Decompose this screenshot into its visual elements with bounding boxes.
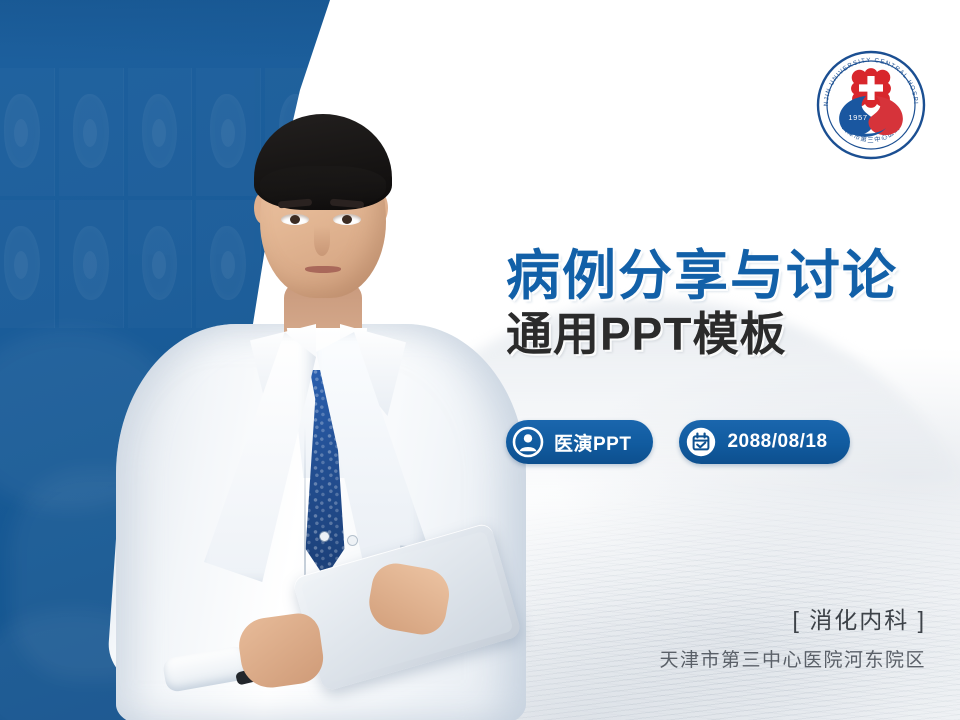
doctor-eye-left	[281, 214, 309, 225]
scan-cell	[0, 200, 55, 328]
organization-label: 天津市第三中心医院河东院区	[659, 645, 926, 672]
page-title: 病例分享与讨论	[506, 248, 926, 304]
date-badge[interactable]: 2088/08/18	[679, 420, 849, 464]
meta-badges: 医演PPT 2088/08/18	[506, 420, 850, 464]
user-icon	[512, 426, 544, 458]
scan-cell	[0, 68, 55, 196]
department-label: [ 消化内科 ]	[659, 601, 926, 635]
page-subtitle: 通用PPT模板	[506, 310, 926, 360]
logo-year: 1957	[848, 113, 867, 122]
doctor-eye-right	[333, 214, 361, 225]
author-badge[interactable]: 医演PPT	[506, 420, 653, 464]
author-label: 医演PPT	[554, 429, 631, 456]
title-slide: TIANJIN UNIVERSITY CENTRAL HOSPITAL 天津市第…	[0, 0, 960, 720]
calendar-icon	[685, 426, 717, 458]
footer-block: [ 消化内科 ] 天津市第三中心医院河东院区	[659, 601, 926, 672]
title-block: 病例分享与讨论 通用PPT模板	[506, 248, 926, 360]
panel-top-band	[0, 0, 360, 62]
date-label: 2088/08/18	[727, 431, 827, 453]
hospital-logo: TIANJIN UNIVERSITY CENTRAL HOSPITAL 天津市第…	[814, 48, 928, 162]
doctor-coat-button	[348, 536, 357, 545]
doctor-hair	[254, 114, 392, 210]
doctor-coat-button	[320, 532, 329, 541]
doctor-mouth	[305, 266, 341, 273]
doctor-nose	[314, 226, 330, 256]
doctor-portrait	[108, 96, 538, 720]
